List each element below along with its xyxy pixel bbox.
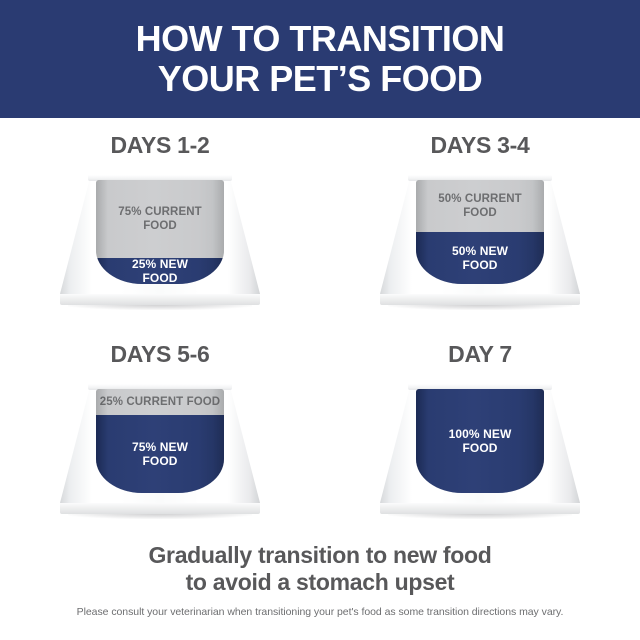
new-food-label-line-1: 100% NEW bbox=[416, 427, 544, 441]
food-well: 75% CURRENT FOOD 25% NEW FOOD bbox=[96, 180, 224, 284]
transition-step-day-7: DAY 7 100% NEW FOOD bbox=[320, 327, 640, 536]
new-food-label-line-2: FOOD bbox=[96, 271, 224, 284]
new-food-portion: 100% NEW FOOD bbox=[416, 389, 544, 493]
current-food-label-line-2: FOOD bbox=[96, 219, 224, 233]
current-food-label-single: 25% CURRENT FOOD bbox=[96, 395, 224, 409]
step-day-label: DAYS 5-6 bbox=[0, 341, 320, 368]
transition-step-days-1-2: DAYS 1-2 75% CURRENT FOOD 25% NEW bbox=[0, 118, 320, 327]
new-food-portion: 25% NEW FOOD bbox=[96, 258, 224, 284]
current-food-label-line-1: 50% CURRENT bbox=[416, 192, 544, 206]
step-day-label: DAY 7 bbox=[320, 341, 640, 368]
new-food-label: 75% NEW FOOD bbox=[96, 440, 224, 468]
food-bowl: 50% CURRENT FOOD 50% NEW FOOD bbox=[380, 170, 580, 310]
new-food-label: 50% NEW FOOD bbox=[416, 244, 544, 272]
new-food-label-line-2: FOOD bbox=[96, 454, 224, 468]
new-food-label-line-1: 75% NEW bbox=[96, 440, 224, 454]
current-food-portion: 25% CURRENT FOOD bbox=[96, 389, 224, 415]
food-well: 25% CURRENT FOOD 75% NEW FOOD bbox=[96, 389, 224, 493]
transition-step-days-5-6: DAYS 5-6 25% CURRENT FOOD 75% NEW bbox=[0, 327, 320, 536]
current-food-label-line-1: 75% CURRENT bbox=[96, 205, 224, 219]
current-food-portion: 75% CURRENT FOOD bbox=[96, 180, 224, 258]
footer-tagline-line-2: to avoid a stomach upset bbox=[0, 569, 640, 596]
current-food-label: 50% CURRENT FOOD bbox=[416, 192, 544, 220]
food-well: 50% CURRENT FOOD 50% NEW FOOD bbox=[416, 180, 544, 284]
new-food-label-line-2: FOOD bbox=[416, 258, 544, 272]
current-food-portion: 50% CURRENT FOOD bbox=[416, 180, 544, 232]
current-food-label-line-2: FOOD bbox=[416, 206, 544, 220]
footer-tagline-line-1: Gradually transition to new food bbox=[0, 542, 640, 569]
new-food-label-line-1: 25% NEW bbox=[96, 257, 224, 271]
new-food-label-line-2: FOOD bbox=[416, 441, 544, 455]
new-food-portion: 50% NEW FOOD bbox=[416, 232, 544, 284]
current-food-label: 75% CURRENT FOOD bbox=[96, 205, 224, 233]
new-food-portion: 75% NEW FOOD bbox=[96, 415, 224, 493]
footer: Gradually transition to new food to avoi… bbox=[0, 536, 640, 640]
new-food-label: 25% NEW FOOD bbox=[96, 257, 224, 284]
footer-disclaimer: Please consult your veterinarian when tr… bbox=[0, 606, 640, 618]
new-food-label-line-1: 50% NEW bbox=[416, 244, 544, 258]
food-well: 100% NEW FOOD bbox=[416, 389, 544, 493]
new-food-label: 100% NEW FOOD bbox=[416, 427, 544, 455]
transition-steps-grid: DAYS 1-2 75% CURRENT FOOD 25% NEW bbox=[0, 118, 640, 536]
food-bowl: 25% CURRENT FOOD 75% NEW FOOD bbox=[60, 379, 260, 519]
header-title-line-2: YOUR PET’S FOOD bbox=[158, 59, 483, 99]
infographic-page: HOW TO TRANSITION YOUR PET’S FOOD DAYS 1… bbox=[0, 0, 640, 640]
step-day-label: DAYS 3-4 bbox=[320, 132, 640, 159]
food-bowl: 100% NEW FOOD bbox=[380, 379, 580, 519]
transition-step-days-3-4: DAYS 3-4 50% CURRENT FOOD 50% NEW bbox=[320, 118, 640, 327]
header-banner: HOW TO TRANSITION YOUR PET’S FOOD bbox=[0, 0, 640, 118]
step-day-label: DAYS 1-2 bbox=[0, 132, 320, 159]
footer-tagline: Gradually transition to new food to avoi… bbox=[0, 542, 640, 596]
food-bowl: 75% CURRENT FOOD 25% NEW FOOD bbox=[60, 170, 260, 310]
current-food-label: 25% CURRENT FOOD bbox=[96, 395, 224, 409]
header-title-line-1: HOW TO TRANSITION bbox=[136, 19, 505, 59]
